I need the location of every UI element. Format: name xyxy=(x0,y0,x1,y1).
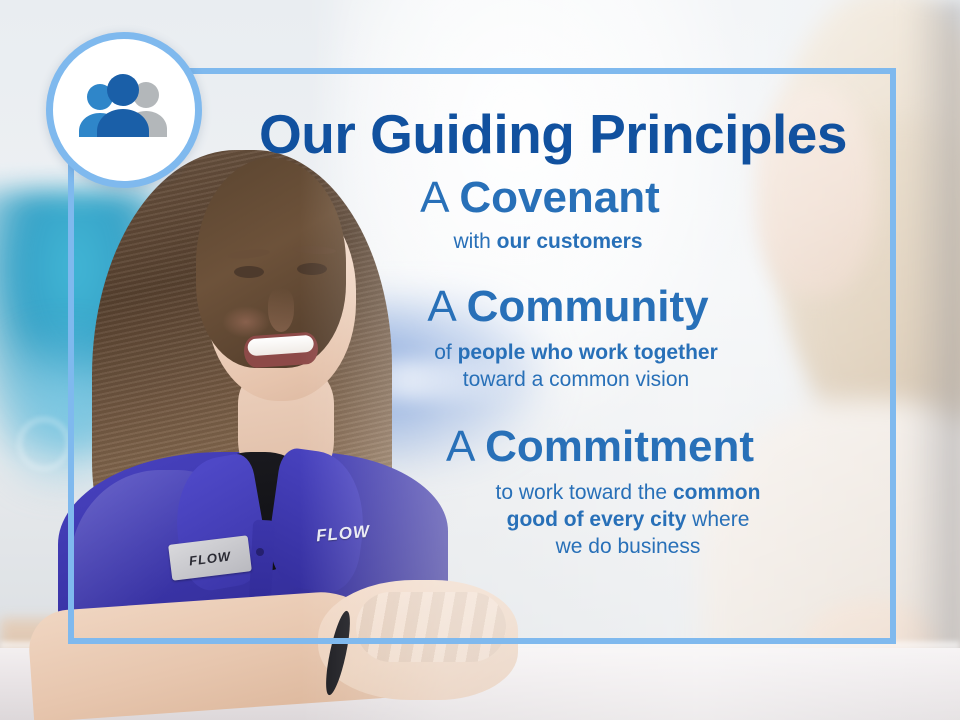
principle-heading: A Covenant xyxy=(210,173,896,222)
principle-article: A xyxy=(427,282,466,331)
principle-subline: toward a common vision xyxy=(256,366,896,393)
guiding-principles-graphic: FLOW FLOW xyxy=(0,0,960,720)
subline-part: with xyxy=(453,230,496,253)
text-content: Our Guiding Principles A Covenant with o… xyxy=(210,80,896,632)
principle-heading: A Commitment xyxy=(210,422,896,471)
subline-part-bold: our customers xyxy=(497,230,643,253)
subline-part: where xyxy=(686,508,749,531)
principle-subline: with our customers xyxy=(210,228,886,255)
vw-emblem-ghost xyxy=(18,418,70,470)
right-edge-shadow xyxy=(906,0,960,720)
principle-covenant: A Covenant with our customers xyxy=(210,173,896,256)
principle-subline: we do business xyxy=(360,533,896,560)
subline-part-bold: common xyxy=(673,481,761,504)
principle-commitment: A Commitment to work toward the common g… xyxy=(210,422,896,561)
subline-part: of xyxy=(434,341,457,364)
principle-subline: good of every city where xyxy=(360,506,896,533)
principle-subtext: with our customers xyxy=(210,228,896,255)
people-group-icon xyxy=(46,32,202,188)
principle-subline: of people who work together xyxy=(256,339,896,366)
subline-part: to work toward the xyxy=(496,481,673,504)
principle-community: A Community of people who work together … xyxy=(210,282,896,394)
principle-subtext: to work toward the common good of every … xyxy=(210,479,896,561)
principle-article: A xyxy=(446,422,485,471)
principle-article: A xyxy=(420,173,459,222)
principle-keyword: Community xyxy=(467,282,709,331)
principle-subline: to work toward the common xyxy=(360,479,896,506)
principle-keyword: Covenant xyxy=(459,173,659,222)
principle-subtext: of people who work together toward a com… xyxy=(210,339,896,394)
subline-part: toward a common vision xyxy=(463,368,689,391)
subline-part-bold: people who work together xyxy=(458,341,718,364)
subline-part-bold: good of every city xyxy=(507,508,687,531)
subline-part: we do business xyxy=(556,535,701,558)
page-title: Our Guiding Principles xyxy=(210,106,896,163)
principle-heading: A Community xyxy=(210,282,896,331)
principle-keyword: Commitment xyxy=(485,422,754,471)
